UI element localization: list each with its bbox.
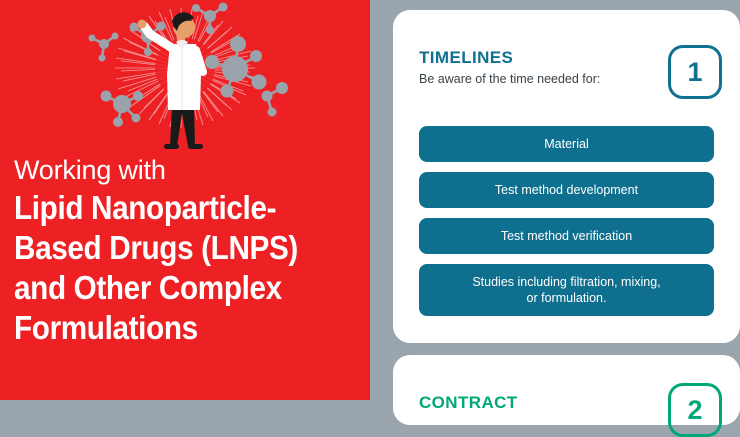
scientist-with-molecules-illustration	[60, 0, 310, 151]
list-item: Material	[419, 126, 714, 162]
list-item: Test method development	[419, 172, 714, 208]
list-item: Test method verification	[419, 218, 714, 254]
page-title: Lipid Nanoparticle- Based Drugs (LNPS) a…	[14, 188, 329, 348]
timeline-item-list: Material Test method development Test me…	[419, 126, 714, 326]
card-header: CONTRACT	[419, 393, 518, 413]
card-kicker: CONTRACT	[419, 393, 518, 413]
title-eyebrow: Working with	[14, 155, 364, 186]
title-block: Working with Lipid Nanoparticle- Based D…	[14, 155, 364, 348]
step-number-badge: 2	[668, 383, 722, 437]
card-kicker: TIMELINES	[419, 48, 600, 68]
card-timelines: TIMELINES Be aware of the time needed fo…	[393, 10, 740, 343]
step-number-badge: 1	[668, 45, 722, 99]
card-header: TIMELINES Be aware of the time needed fo…	[419, 48, 600, 87]
cards-column: TIMELINES Be aware of the time needed fo…	[393, 0, 740, 400]
card-subtitle: Be aware of the time needed for:	[419, 71, 600, 87]
title-panel: Working with Lipid Nanoparticle- Based D…	[0, 0, 370, 400]
list-item: Studies including filtration, mixing, or…	[419, 264, 714, 316]
card-contract: CONTRACT 2	[393, 355, 740, 425]
